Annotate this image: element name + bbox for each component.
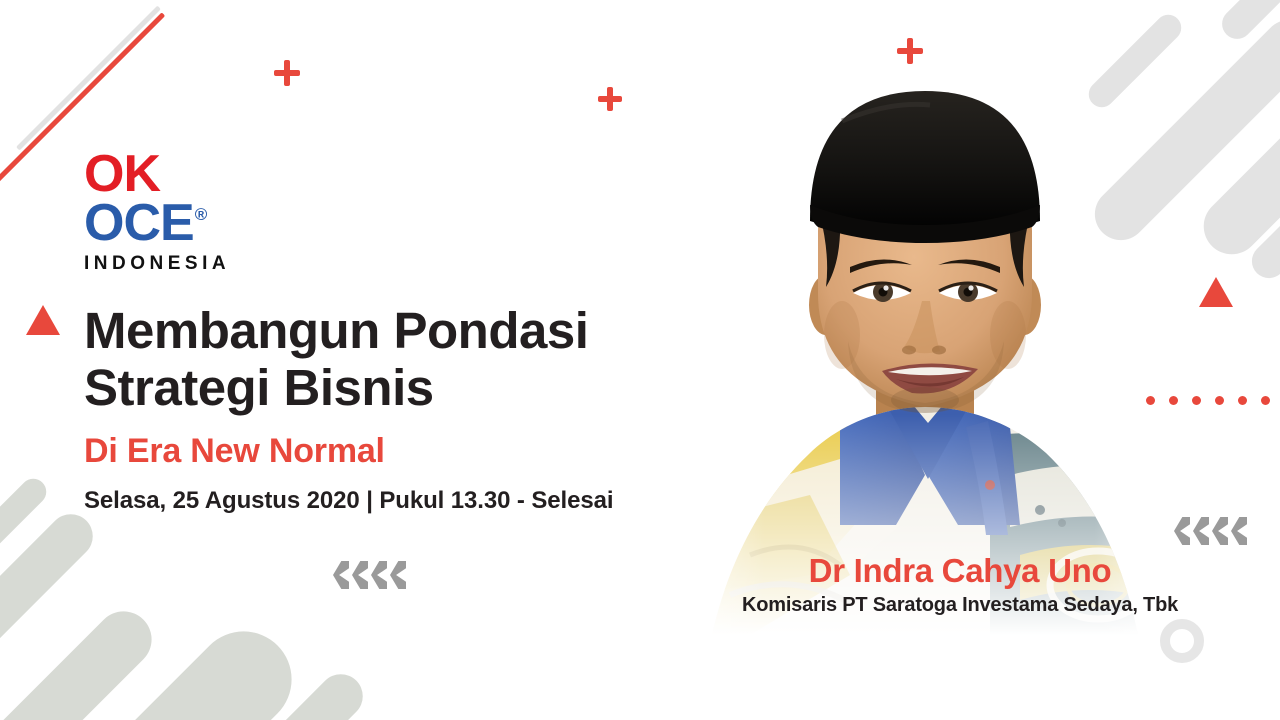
logo-line-oce: OCE (84, 199, 194, 248)
diagonal-bar-bl-2 (0, 600, 163, 720)
okoce-logo: OK OCE® INDONESIA (84, 150, 230, 275)
diagonal-bar-bl-4 (178, 665, 372, 720)
chevron-group-left (333, 561, 406, 589)
diagonal-bar-bl-1 (0, 505, 102, 699)
logo-line-ok: OK (84, 150, 230, 199)
speaker-name: Dr Indra Cahya Uno (700, 552, 1220, 590)
triangle-icon-right (1199, 277, 1233, 307)
plus-icon-1 (274, 60, 300, 86)
page-title: Membangun Pondasi Strategi Bisnis (84, 302, 724, 416)
diagonal-bar-bl-3 (39, 612, 312, 720)
poster-canvas: OK OCE® INDONESIA Membangun Pondasi Stra… (0, 0, 1280, 720)
diagonal-bar-tr-5 (1216, 0, 1280, 45)
title-line-2: Strategi Bisnis (84, 359, 434, 416)
speaker-block: Dr Indra Cahya Uno Komisaris PT Saratoga… (700, 552, 1220, 617)
plus-icon-2 (598, 87, 622, 111)
diagonal-bar-tr-3 (1192, 14, 1280, 266)
ring-icon (1160, 619, 1204, 663)
speaker-role: Komisaris PT Saratoga Investama Sedaya, … (700, 594, 1220, 617)
diagonal-bar-bl-5 (0, 473, 52, 576)
subtitle: Di Era New Normal (84, 432, 724, 471)
diagonal-line-grey (16, 6, 161, 151)
triangle-icon-left (26, 305, 60, 335)
speaker-portrait (690, 55, 1160, 635)
headline-block: Membangun Pondasi Strategi Bisnis Di Era… (84, 302, 724, 515)
diagonal-bar-tr-4 (1245, 141, 1280, 285)
logo-line-oce-wrap: OCE® (84, 199, 230, 248)
dot-row (1146, 396, 1280, 405)
chevron-group-right (1174, 517, 1247, 545)
title-line-1: Membangun Pondasi (84, 302, 588, 359)
registered-mark-icon: ® (195, 205, 208, 224)
logo-line-indonesia: INDONESIA (84, 253, 230, 275)
event-datetime: Selasa, 25 Agustus 2020 | Pukul 13.30 - … (84, 487, 724, 515)
